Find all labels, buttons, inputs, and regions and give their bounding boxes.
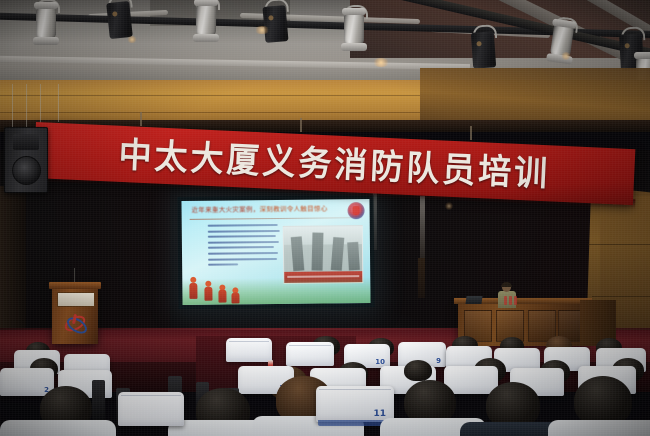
- seat-number: 10: [375, 358, 385, 366]
- stage-light-chrome-icon: [196, 3, 216, 37]
- bottle: [514, 296, 517, 305]
- firefighter-body: [231, 292, 239, 303]
- seat[interactable]: [118, 392, 184, 426]
- auditorium-photo: 近年来重大火灾案例，深刻教训令人触目惊心: [0, 0, 650, 436]
- suspension-wire: [58, 84, 59, 122]
- lamp-glow: [254, 26, 270, 34]
- logo-swirl: [64, 314, 90, 337]
- firefighter-body: [189, 283, 197, 299]
- company-swirl-logo-icon: [64, 312, 86, 332]
- lamp-body: [344, 12, 364, 46]
- speaker-horn: [13, 134, 39, 150]
- door-edge-light: [420, 196, 425, 258]
- audience-head: [404, 360, 432, 381]
- seat-number: 9: [436, 357, 441, 365]
- banner-tie: [470, 126, 472, 140]
- slide-photo: [283, 225, 364, 284]
- stage-light-chrome-icon: [36, 6, 56, 40]
- slide-text-line: [208, 264, 238, 266]
- audience-area: 10 9 2 10 9 11: [0, 336, 650, 436]
- suspension-wire: [12, 84, 13, 128]
- lamp-body: [106, 1, 133, 39]
- loudspeaker: [4, 127, 48, 193]
- audience-shoulders: [0, 420, 116, 436]
- slide-title: 近年来重大火灾案例，深刻教训令人触目惊心: [192, 205, 336, 214]
- slide-text-line: [208, 246, 274, 249]
- stage-light-black-icon: [262, 5, 288, 43]
- lectern-top: [49, 282, 101, 289]
- slide-text-line: [208, 241, 279, 244]
- slide-title-part2: 深刻教训令人触目惊心: [260, 205, 328, 213]
- lamp-glow: [372, 58, 390, 67]
- lamp-body: [36, 6, 56, 40]
- wall-seam: [592, 296, 650, 297]
- burnt-column: [347, 242, 360, 271]
- suspension-wire: [40, 84, 41, 126]
- seat[interactable]: 11: [316, 386, 394, 422]
- side-pillar: [0, 186, 26, 346]
- stage-light-black-icon: [106, 1, 133, 39]
- firefighter-body: [204, 287, 212, 301]
- bottle: [504, 296, 507, 305]
- wood-wall-band-right: [420, 68, 650, 126]
- slide-text-line: [208, 252, 278, 255]
- slide-text-line: [208, 224, 278, 227]
- slide-text-line: [208, 258, 277, 261]
- lectern-nameplate: [57, 292, 95, 307]
- lamp-body: [471, 31, 496, 69]
- stage-light-chrome-icon: [344, 12, 364, 46]
- bottles-on-table: [504, 296, 516, 305]
- seat[interactable]: [226, 338, 272, 362]
- projected-slide: 近年来重大火灾案例，深刻教训令人触目惊心: [181, 199, 370, 305]
- stray-light: [445, 202, 453, 210]
- slide-title-part1: 近年来重大火灾案例，: [192, 205, 260, 214]
- slide-text-line: [208, 235, 276, 238]
- seat[interactable]: [286, 342, 334, 366]
- projection-screen: 近年来重大火灾案例，深刻教训令人触目惊心: [177, 195, 374, 309]
- seat-fold: [289, 345, 331, 346]
- wall-seam: [588, 244, 650, 245]
- seat[interactable]: 2: [0, 368, 54, 396]
- lamp-glow: [127, 36, 137, 43]
- presenter-hair: [501, 282, 512, 287]
- audience-shoulders: [548, 420, 650, 436]
- banner-tie: [140, 112, 142, 126]
- door-panel: [418, 258, 425, 298]
- slide-text-line: [208, 230, 280, 233]
- lamp-glow: [561, 52, 571, 60]
- burnt-column: [312, 232, 324, 270]
- audience-head: [574, 376, 632, 426]
- seat-fold: [121, 395, 181, 396]
- laptop-on-table: [465, 296, 482, 304]
- fire-service-emblem-icon: [347, 202, 364, 219]
- seat-fold: [229, 341, 269, 342]
- firefighter-body: [218, 290, 226, 303]
- suspension-wire: [26, 84, 27, 128]
- banner-tie: [300, 118, 302, 132]
- bottle: [509, 296, 512, 305]
- slide-title-rule: [190, 217, 362, 220]
- slide-body-text: [208, 224, 280, 270]
- seat-fold: [319, 389, 391, 390]
- seat-frame: [92, 380, 105, 420]
- lamp-body: [262, 5, 288, 43]
- banner-text: 中太大厦义务消防队员培训: [118, 136, 551, 190]
- seat-number: 11: [373, 409, 386, 419]
- stage-light-black-icon: [471, 31, 496, 69]
- burnt-column: [331, 237, 344, 271]
- speaker-driver: [12, 156, 41, 185]
- lamp-body: [196, 3, 216, 37]
